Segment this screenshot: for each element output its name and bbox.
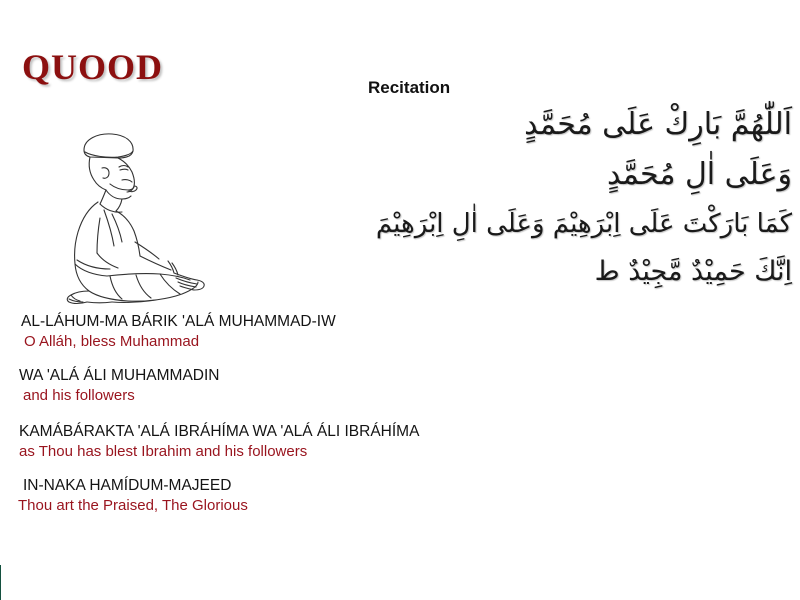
- transliteration-line: AL-LÁHUM-MA BÁRIK 'ALÁ MUHAMMAD-IW: [21, 312, 800, 332]
- recitation-pair: AL-LÁHUM-MA BÁRIK 'ALÁ MUHAMMAD-IW O All…: [0, 312, 800, 352]
- arabic-line-4: اِنَّكَ حَمِيْدٌ مَّجِيْدٌ ط: [322, 248, 792, 296]
- recitation-pair: IN-NAKA HAMÍDUM-MAJEED Thou art the Prai…: [0, 476, 800, 516]
- arabic-recitation-block: اَللّٰهُمَّ بَارِكْ عَلَى مُحَمَّدٍ وَعَ…: [322, 100, 792, 296]
- arabic-line-2: وَعَلَى اٰلِ مُحَمَّدٍ: [322, 150, 792, 200]
- recitation-pair: WA 'ALÁ ÁLI MUHAMMADIN and his followers: [0, 366, 800, 406]
- translation-line: and his followers: [23, 386, 800, 406]
- translation-line: Thou art the Praised, The Glorious: [18, 496, 800, 516]
- recitation-text-block: AL-LÁHUM-MA BÁRIK 'ALÁ MUHAMMAD-IW O All…: [0, 312, 800, 528]
- quood-posture-illustration: [40, 122, 240, 312]
- arabic-line-3: كَمَا بَارَكْتَ عَلَى اِبْرَهِيْمَ وَعَل…: [322, 200, 792, 248]
- arabic-line-1: اَللّٰهُمَّ بَارِكْ عَلَى مُحَمَّدٍ: [322, 100, 792, 150]
- translation-line: as Thou has blest Ibrahim and his follow…: [19, 442, 800, 462]
- translation-line: O Alláh, bless Muhammad: [24, 332, 800, 352]
- transliteration-line: KAMÁBÁRAKTA 'ALÁ IBRÁHÍMA WA 'ALÁ ÁLI IB…: [19, 422, 800, 442]
- left-edge-rule: [0, 565, 1, 600]
- recitation-heading: Recitation: [368, 78, 450, 98]
- page-title: QUOOD: [22, 46, 163, 88]
- transliteration-line: IN-NAKA HAMÍDUM-MAJEED: [23, 476, 800, 496]
- transliteration-line: WA 'ALÁ ÁLI MUHAMMADIN: [19, 366, 800, 386]
- recitation-pair: KAMÁBÁRAKTA 'ALÁ IBRÁHÍMA WA 'ALÁ ÁLI IB…: [0, 422, 800, 462]
- slide-canvas: QUOOD Recitation: [0, 0, 800, 600]
